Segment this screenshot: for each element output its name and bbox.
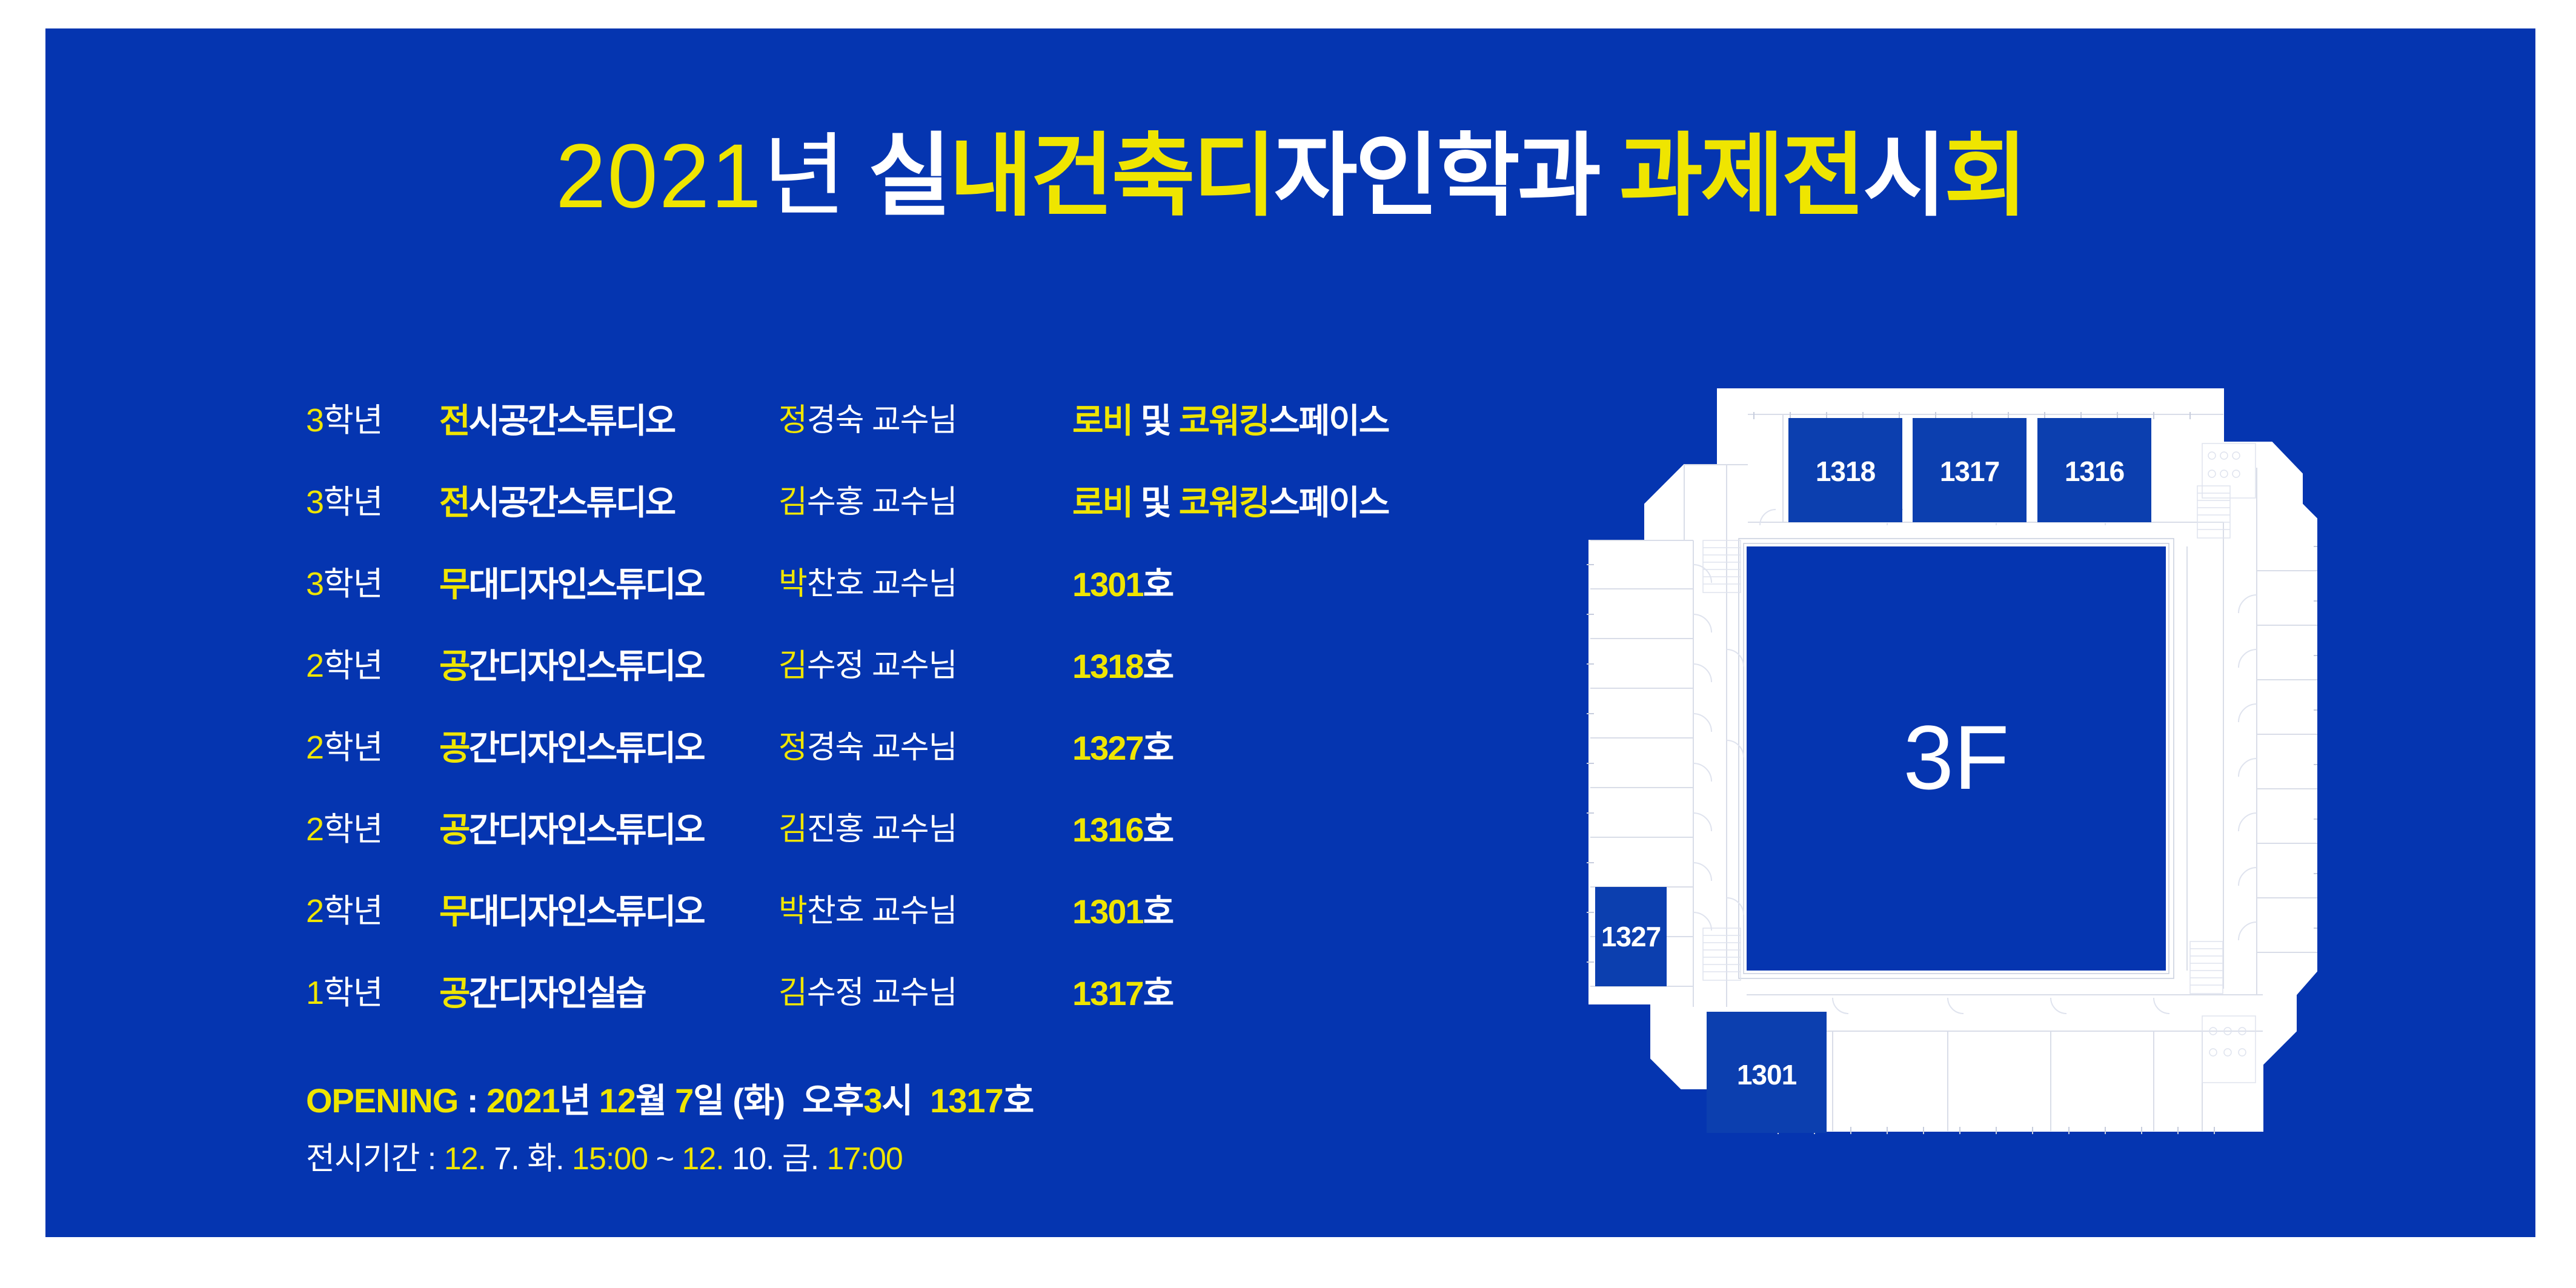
row-room-part-0: 1317 xyxy=(1072,974,1143,1012)
row-course: 공간디자인스튜디오 xyxy=(439,707,704,789)
row-course: 무대디자인스튜디오 xyxy=(439,871,704,952)
course-row[interactable]: 3학년전시공간스튜디오정경숙 교수님로비 및 코워킹스페이스 xyxy=(306,380,1518,462)
row-professor-initial: 김 xyxy=(778,485,807,520)
row-course-initial: 공 xyxy=(439,729,469,767)
opening-part-6: 7 xyxy=(675,1081,693,1120)
title-dept-char-3: 축 xyxy=(1112,125,1193,227)
row-room-part-0: 1327 xyxy=(1072,729,1143,767)
row-grade-number: 2 xyxy=(306,648,324,684)
opening-part-0: OPENING xyxy=(306,1081,458,1120)
row-course: 공간디자인실습 xyxy=(439,952,645,1034)
row-room-part-0: 로비 xyxy=(1072,402,1132,440)
row-professor-rest: 경숙 교수님 xyxy=(807,730,957,765)
row-grade-number: 1 xyxy=(306,975,324,1011)
row-room-part-1: 호 xyxy=(1143,565,1173,603)
row-course: 전시공간스튜디오 xyxy=(439,380,674,462)
page-title: 2021년실내건축디자인학과과제전시회 xyxy=(45,130,2535,221)
row-grade: 3학년 xyxy=(306,380,427,462)
row-room-part-1: 호 xyxy=(1143,729,1173,767)
period-line: 전시기간 : 12. 7. 화. 15:00 ~ 12. 10. 금. 17:0… xyxy=(306,1143,1034,1175)
opening-part-3: 년 xyxy=(560,1081,599,1120)
period-part-8: 금. xyxy=(774,1141,818,1177)
title-event-char-0: 과 xyxy=(1619,125,1701,227)
room-label-1316: 1316 xyxy=(2065,456,2124,487)
course-row[interactable]: 3학년전시공간스튜디오김수홍 교수님로비 및 코워킹스페이스 xyxy=(306,462,1518,543)
course-row[interactable]: 2학년공간디자인스튜디오김진홍 교수님1316호 xyxy=(306,789,1518,871)
title-dept-char-6: 인 xyxy=(1355,125,1436,227)
opening-part-2: 2021 xyxy=(486,1081,560,1120)
floor-label-3f: 3F xyxy=(1903,706,2009,808)
opening-part-10: 1317 xyxy=(930,1081,1003,1120)
row-room-part-1: 호 xyxy=(1143,811,1173,849)
title-dept-char-1: 내 xyxy=(949,125,1031,227)
row-course: 전시공간스튜디오 xyxy=(439,462,674,543)
course-list: 3학년전시공간스튜디오정경숙 교수님로비 및 코워킹스페이스3학년전시공간스튜디… xyxy=(306,380,1518,1034)
row-grade-number: 2 xyxy=(306,811,324,848)
row-room-part-2: 코워킹 xyxy=(1179,402,1269,440)
row-grade-suffix: 학년 xyxy=(324,402,382,439)
title-event: 과제전시회 xyxy=(1619,130,2025,221)
row-course-initial: 공 xyxy=(439,647,469,685)
row-room: 로비 및 코워킹스페이스 xyxy=(1072,380,1389,462)
row-grade-number: 3 xyxy=(306,484,324,520)
row-professor: 박찬호 교수님 xyxy=(778,871,957,952)
row-grade: 2학년 xyxy=(306,789,427,871)
row-course: 공간디자인스튜디오 xyxy=(439,625,704,707)
title-dept-char-0: 실 xyxy=(868,125,949,227)
opening-part-5: 월 xyxy=(636,1081,675,1120)
period-part-7: 10. xyxy=(724,1141,774,1177)
period-part-6: 12. xyxy=(682,1141,723,1177)
opening-part-9: 시 xyxy=(881,1081,930,1120)
row-room-part-1: 및 xyxy=(1132,402,1179,440)
row-professor-initial: 정 xyxy=(778,403,807,438)
row-room-part-0: 1318 xyxy=(1072,647,1143,685)
row-grade-suffix: 학년 xyxy=(324,811,382,848)
row-room-part-0: 로비 xyxy=(1072,483,1132,522)
row-course-initial: 공 xyxy=(439,811,469,849)
row-room-part-0: 1301 xyxy=(1072,892,1143,931)
course-row[interactable]: 3학년무대디자인스튜디오박찬호 교수님1301호 xyxy=(306,543,1518,625)
row-professor-rest: 수정 교수님 xyxy=(807,648,957,683)
row-professor: 김수정 교수님 xyxy=(778,625,957,707)
row-course: 공간디자인스튜디오 xyxy=(439,789,704,871)
title-dept-char-7: 학 xyxy=(1436,125,1518,227)
row-room-part-0: 1316 xyxy=(1072,811,1143,849)
row-course-rest: 간디자인스튜디오 xyxy=(469,811,704,849)
row-course-rest: 시공간스튜디오 xyxy=(469,402,675,440)
row-grade: 2학년 xyxy=(306,625,427,707)
course-row[interactable]: 2학년공간디자인스튜디오김수정 교수님1318호 xyxy=(306,625,1518,707)
row-professor: 정경숙 교수님 xyxy=(778,380,957,462)
course-row[interactable]: 1학년공간디자인실습김수정 교수님1317호 xyxy=(306,952,1518,1034)
row-professor-rest: 경숙 교수님 xyxy=(807,403,957,438)
footer-info: OPENING : 2021년 12월 7일 (화) 오후3시 1317호 전시… xyxy=(306,1084,1034,1200)
title-event-char-2: 전 xyxy=(1782,125,1863,227)
row-professor-initial: 정 xyxy=(778,730,807,765)
row-room: 1316호 xyxy=(1072,789,1173,871)
row-professor-rest: 찬호 교수님 xyxy=(807,566,957,602)
floor-plan-drawing: 1318 1317 1316 1327 1301 3F xyxy=(1587,389,2317,1134)
period-part-4: 15:00 xyxy=(564,1141,648,1177)
row-grade-suffix: 학년 xyxy=(324,484,382,520)
row-grade-suffix: 학년 xyxy=(324,729,382,766)
title-event-char-4: 회 xyxy=(1944,125,2025,227)
row-room: 1317호 xyxy=(1072,952,1173,1034)
row-course-initial: 공 xyxy=(439,974,469,1012)
row-room-part-1: 호 xyxy=(1143,892,1173,931)
title-dept-char-2: 건 xyxy=(1031,125,1112,227)
row-grade-suffix: 학년 xyxy=(324,893,382,929)
row-course-rest: 시공간스튜디오 xyxy=(469,483,675,522)
room-label-1318: 1318 xyxy=(1816,456,1876,487)
row-professor-rest: 진홍 교수님 xyxy=(807,812,957,847)
period-part-3: 화. xyxy=(519,1141,564,1177)
row-course-rest: 간디자인실습 xyxy=(469,974,645,1012)
row-grade-suffix: 학년 xyxy=(324,566,382,602)
row-grade-suffix: 학년 xyxy=(324,648,382,684)
row-grade: 2학년 xyxy=(306,707,427,789)
floor-plan: 1318 1317 1316 1327 1301 3F xyxy=(1572,365,2317,1134)
opening-part-1: : xyxy=(458,1081,486,1120)
row-course-initial: 무 xyxy=(439,892,469,931)
row-professor-initial: 김 xyxy=(778,648,807,683)
opening-part-11: 호 xyxy=(1003,1081,1034,1120)
row-grade: 2학년 xyxy=(306,871,427,952)
row-room-part-0: 1301 xyxy=(1072,565,1143,603)
row-room: 1301호 xyxy=(1072,543,1173,625)
opening-part-7: 일 (화) 오후 xyxy=(693,1081,863,1120)
row-course-rest: 간디자인스튜디오 xyxy=(469,647,704,685)
opening-line: OPENING : 2021년 12월 7일 (화) 오후3시 1317호 xyxy=(306,1084,1034,1118)
title-year: 2021년 xyxy=(556,130,848,221)
row-grade: 1학년 xyxy=(306,952,427,1034)
row-course-initial: 전 xyxy=(439,483,469,522)
row-room-part-3: 스페이스 xyxy=(1269,402,1389,440)
row-professor-rest: 수정 교수님 xyxy=(807,975,957,1011)
opening-part-8: 3 xyxy=(863,1081,881,1120)
row-course-rest: 대디자인스튜디오 xyxy=(469,892,704,931)
period-part-1: 12. xyxy=(444,1141,486,1177)
title-dept-char-8: 과 xyxy=(1518,125,1599,227)
row-professor: 박찬호 교수님 xyxy=(778,543,957,625)
row-room: 1301호 xyxy=(1072,871,1173,952)
row-professor: 김수홍 교수님 xyxy=(778,462,957,543)
row-room: 로비 및 코워킹스페이스 xyxy=(1072,462,1389,543)
row-room-part-2: 코워킹 xyxy=(1179,483,1269,522)
row-course-rest: 대디자인스튜디오 xyxy=(469,565,704,603)
period-part-2: 7. xyxy=(486,1141,519,1177)
title-year-suffix: 년 xyxy=(763,125,848,227)
row-room-part-1: 호 xyxy=(1143,647,1173,685)
row-professor-initial: 박 xyxy=(778,894,807,929)
poster-panel: 2021년실내건축디자인학과과제전시회 3학년전시공간스튜디오정경숙 교수님로비… xyxy=(45,28,2535,1237)
row-professor-initial: 박 xyxy=(778,566,807,602)
opening-part-4: 12 xyxy=(599,1081,636,1120)
row-room: 1327호 xyxy=(1072,707,1173,789)
row-course-initial: 전 xyxy=(439,402,469,440)
row-professor-initial: 김 xyxy=(778,975,807,1011)
period-part-9: 17:00 xyxy=(818,1141,903,1177)
row-course-rest: 간디자인스튜디오 xyxy=(469,729,704,767)
row-grade-number: 2 xyxy=(306,729,324,766)
course-row[interactable]: 2학년무대디자인스튜디오박찬호 교수님1301호 xyxy=(306,871,1518,952)
row-grade: 3학년 xyxy=(306,543,427,625)
period-part-0: 전시기간 : xyxy=(306,1141,444,1177)
row-professor: 김진홍 교수님 xyxy=(778,789,957,871)
period-part-5: ~ xyxy=(648,1141,682,1177)
course-row[interactable]: 2학년공간디자인스튜디오정경숙 교수님1327호 xyxy=(306,707,1518,789)
row-course: 무대디자인스튜디오 xyxy=(439,543,704,625)
title-dept-char-4: 디 xyxy=(1193,125,1274,227)
row-grade-number: 3 xyxy=(306,566,324,602)
row-professor-rest: 수홍 교수님 xyxy=(807,485,957,520)
row-grade-suffix: 학년 xyxy=(324,975,382,1011)
row-professor-rest: 찬호 교수님 xyxy=(807,894,957,929)
room-label-1327: 1327 xyxy=(1601,921,1661,952)
title-event-char-1: 제 xyxy=(1701,125,1782,227)
row-grade-number: 3 xyxy=(306,402,324,439)
row-room: 1318호 xyxy=(1072,625,1173,707)
row-professor: 김수정 교수님 xyxy=(778,952,957,1034)
title-dept-char-5: 자 xyxy=(1274,125,1355,227)
row-room-part-1: 호 xyxy=(1143,974,1173,1012)
title-year-number: 2021 xyxy=(556,125,763,227)
row-professor-initial: 김 xyxy=(778,812,807,847)
row-course-initial: 무 xyxy=(439,565,469,603)
row-room-part-1: 및 xyxy=(1132,483,1179,522)
title-department: 실내건축디자인학과 xyxy=(868,130,1599,221)
row-professor: 정경숙 교수님 xyxy=(778,707,957,789)
title-event-char-3: 시 xyxy=(1863,125,1944,227)
row-grade: 3학년 xyxy=(306,462,427,543)
room-label-1317: 1317 xyxy=(1940,456,1999,487)
row-grade-number: 2 xyxy=(306,893,324,929)
room-label-1301: 1301 xyxy=(1737,1059,1797,1090)
row-room-part-3: 스페이스 xyxy=(1269,483,1389,522)
